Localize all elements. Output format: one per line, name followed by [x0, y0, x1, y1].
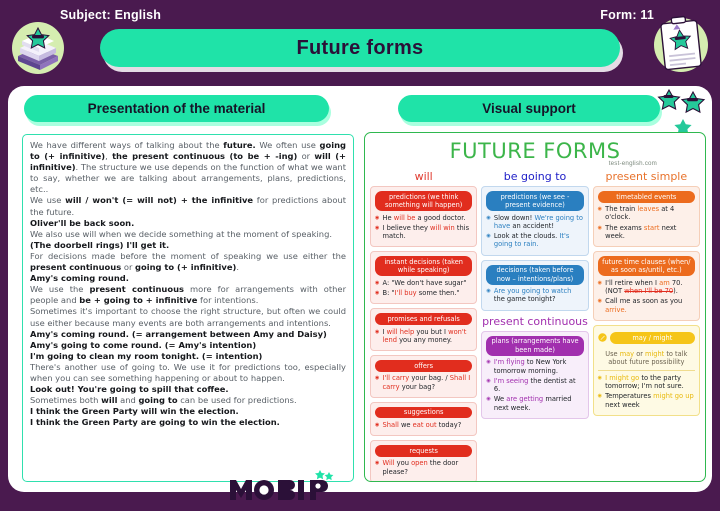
infographic-columns: willpredictions (we think something will… — [365, 167, 705, 482]
panel-item: Are you going to watch the game tonight? — [486, 287, 583, 304]
panel-tag: decisions (taken before now – intentions… — [486, 265, 583, 285]
panel-item: Look at the clouds. It's going to rain. — [486, 232, 583, 249]
be-going-to-panel: predictions (we see - present evidence)S… — [481, 186, 588, 256]
panel-item-list: Are you going to watch the game tonight? — [486, 287, 583, 304]
lesson-title-pill: Future forms — [100, 29, 620, 67]
presentation-paragraph: We also use will when we decide somethin… — [30, 229, 346, 240]
panel-tag: predictions (we see - present evidence) — [486, 191, 583, 211]
panel-item: I'll carry your bag. / Shall I carry you… — [375, 374, 472, 391]
panel-item: I'm seeing the dentist at 6. — [486, 377, 583, 394]
page-title: Future forms — [297, 37, 424, 60]
panel-tag: suggestions — [375, 407, 472, 419]
will-panel: predictions (we think something will hap… — [370, 186, 477, 247]
content-board: Presentation of the material Visual supp… — [8, 86, 712, 492]
will-panel: promises and refusalsI will help you but… — [370, 308, 477, 351]
infographic-column-be-going-to: be going topredictions (we see - present… — [481, 170, 588, 482]
form-label: Form: 11 — [600, 8, 654, 22]
may-might-note: Use may or might to talk about future po… — [598, 349, 695, 371]
panel-item: A: "We don't have sugar" — [375, 279, 472, 287]
panel-item: I'm flying to New York tomorrow morning. — [486, 358, 583, 375]
panel-item: B: "I'll buy some then." — [375, 289, 472, 297]
presentation-example: I'm going to clean my room tonight. (= i… — [30, 351, 346, 362]
panel-item-list: I'll carry your bag. / Shall I carry you… — [375, 374, 472, 391]
present-simple-panel: timetabled eventsThe train leaves at 4 o… — [593, 186, 700, 247]
may-might-header-row: may / might — [598, 329, 695, 347]
presentation-example: I think the Green Party are going to win… — [30, 417, 346, 428]
clipboard-star-icon — [650, 10, 712, 80]
panel-item-list: I might go to the party tomorrow; I'm no… — [598, 374, 695, 409]
will-panel: offersI'll carry your bag. / Shall I car… — [370, 355, 477, 398]
will-panel: requestsWill you open the door please? — [370, 440, 477, 482]
presentation-paragraph: We have different ways of talking about … — [30, 140, 346, 195]
panel-item: Shall we eat out today? — [375, 421, 472, 429]
presentation-example: (The doorbell rings) I'll get it. — [30, 240, 346, 251]
panel-tag: promises and refusals — [375, 313, 472, 325]
infographic-column-present-simple: present simpletimetabled eventsThe train… — [593, 170, 700, 482]
panel-item: Slow down! We're going to have an accide… — [486, 214, 583, 231]
page-header: Subject: English Form: 11 Future forms — [0, 0, 720, 86]
present-continuous-panel: plans (arrangements have been made)I'm f… — [481, 331, 588, 419]
column-heading-present-simple: present simple — [593, 170, 700, 183]
will-panel: suggestionsShall we eat out today? — [370, 402, 477, 436]
present-simple-panel: future time clauses (when/ as soon as/un… — [593, 251, 700, 321]
presentation-paragraph: Sometimes it's important to choose the r… — [30, 306, 346, 328]
may-might-panel: may / mightUse may or might to talk abou… — [593, 325, 700, 416]
panel-item: I believe they will win this match. — [375, 224, 472, 241]
presentation-example: Amy's going to come round. (= Amy's inte… — [30, 340, 346, 351]
panel-item-list: I'm flying to New York tomorrow morning.… — [486, 358, 583, 412]
presentation-text-card: We have different ways of talking about … — [22, 134, 354, 482]
pencil-icon — [598, 329, 607, 347]
section-header-visual-support: Visual support — [398, 95, 660, 122]
visual-support-infographic: FUTURE FORMS test-english.com willpredic… — [364, 132, 706, 482]
presentation-example: Oliver'll be back soon. — [30, 218, 346, 229]
panel-item-list: The train leaves at 4 o'clock.The exams … — [598, 205, 695, 240]
presentation-paragraph: For decisions made before the moment of … — [30, 251, 346, 273]
be-going-to-panel: decisions (taken before now – intentions… — [481, 260, 588, 311]
panel-item: The train leaves at 4 o'clock. — [598, 205, 695, 222]
panel-item: Call me as soon as you arrive. — [598, 297, 695, 314]
subject-label: Subject: English — [60, 8, 161, 22]
panel-item-list: Shall we eat out today? — [375, 421, 472, 429]
presentation-paragraph: Sometimes both will and going to can be … — [30, 395, 346, 406]
presentation-paragraph: We use the present continuous more for a… — [30, 284, 346, 306]
panel-item-list: He will be a good doctor.I believe they … — [375, 214, 472, 241]
panel-tag: instant decisions (taken while speaking) — [375, 256, 472, 276]
presentation-example: I think the Green Party will win the ele… — [30, 406, 346, 417]
presentation-example: Amy's coming round. — [30, 273, 346, 284]
infographic-column-will: willpredictions (we think something will… — [370, 170, 477, 482]
panel-item: We are getting married next week. — [486, 395, 583, 412]
panel-item-list: I'll retire when I am 70. (NOT when I'll… — [598, 279, 695, 314]
panel-tag: timetabled events — [598, 191, 695, 203]
panel-item: Will you open the door please? — [375, 459, 472, 476]
section-header-presentation-label: Presentation of the material — [88, 101, 266, 116]
panel-item-list: A: "We don't have sugar"B: "I'll buy som… — [375, 279, 472, 298]
panel-item-list: I will help you but I won't lend you any… — [375, 328, 472, 345]
panel-tag: predictions (we think something will hap… — [375, 191, 472, 211]
panel-tag: plans (arrangements have been made) — [486, 336, 583, 356]
panel-tag: offers — [375, 360, 472, 372]
panel-tag: may / might — [610, 332, 695, 344]
section-header-visual-support-label: Visual support — [482, 101, 576, 116]
column-heading-be-going-to: be going to — [481, 170, 588, 183]
panel-item-list: Slow down! We're going to have an accide… — [486, 214, 583, 249]
panel-tag: requests — [375, 445, 472, 457]
column-subheading-present-continuous: present continuous — [481, 315, 588, 328]
section-header-presentation: Presentation of the material — [24, 95, 329, 122]
panel-item: He will be a good doctor. — [375, 214, 472, 222]
presentation-example: Amy's coming round. (= arrangement betwe… — [30, 329, 346, 340]
panel-item: I might go to the party tomorrow; I'm no… — [598, 374, 695, 391]
column-heading-will: will — [370, 170, 477, 183]
will-panel: instant decisions (taken while speaking)… — [370, 251, 477, 304]
panel-item: Temperatures might go up next week — [598, 392, 695, 409]
presentation-paragraph: There's another use of going to. We use … — [30, 362, 346, 384]
panel-item: I will help you but I won't lend you any… — [375, 328, 472, 345]
panel-item: The exams start next week. — [598, 224, 695, 241]
presentation-example: Look out! You're going to spill that cof… — [30, 384, 346, 395]
book-stack-star-icon — [8, 18, 68, 78]
panel-item-list: Will you open the door please? — [375, 459, 472, 476]
mobip-logo — [228, 470, 348, 504]
panel-item: I'll retire when I am 70. (NOT when I'll… — [598, 279, 695, 296]
panel-tag: future time clauses (when/ as soon as/un… — [598, 256, 695, 276]
presentation-paragraph: We use will / won't (= will not) + the i… — [30, 195, 346, 217]
